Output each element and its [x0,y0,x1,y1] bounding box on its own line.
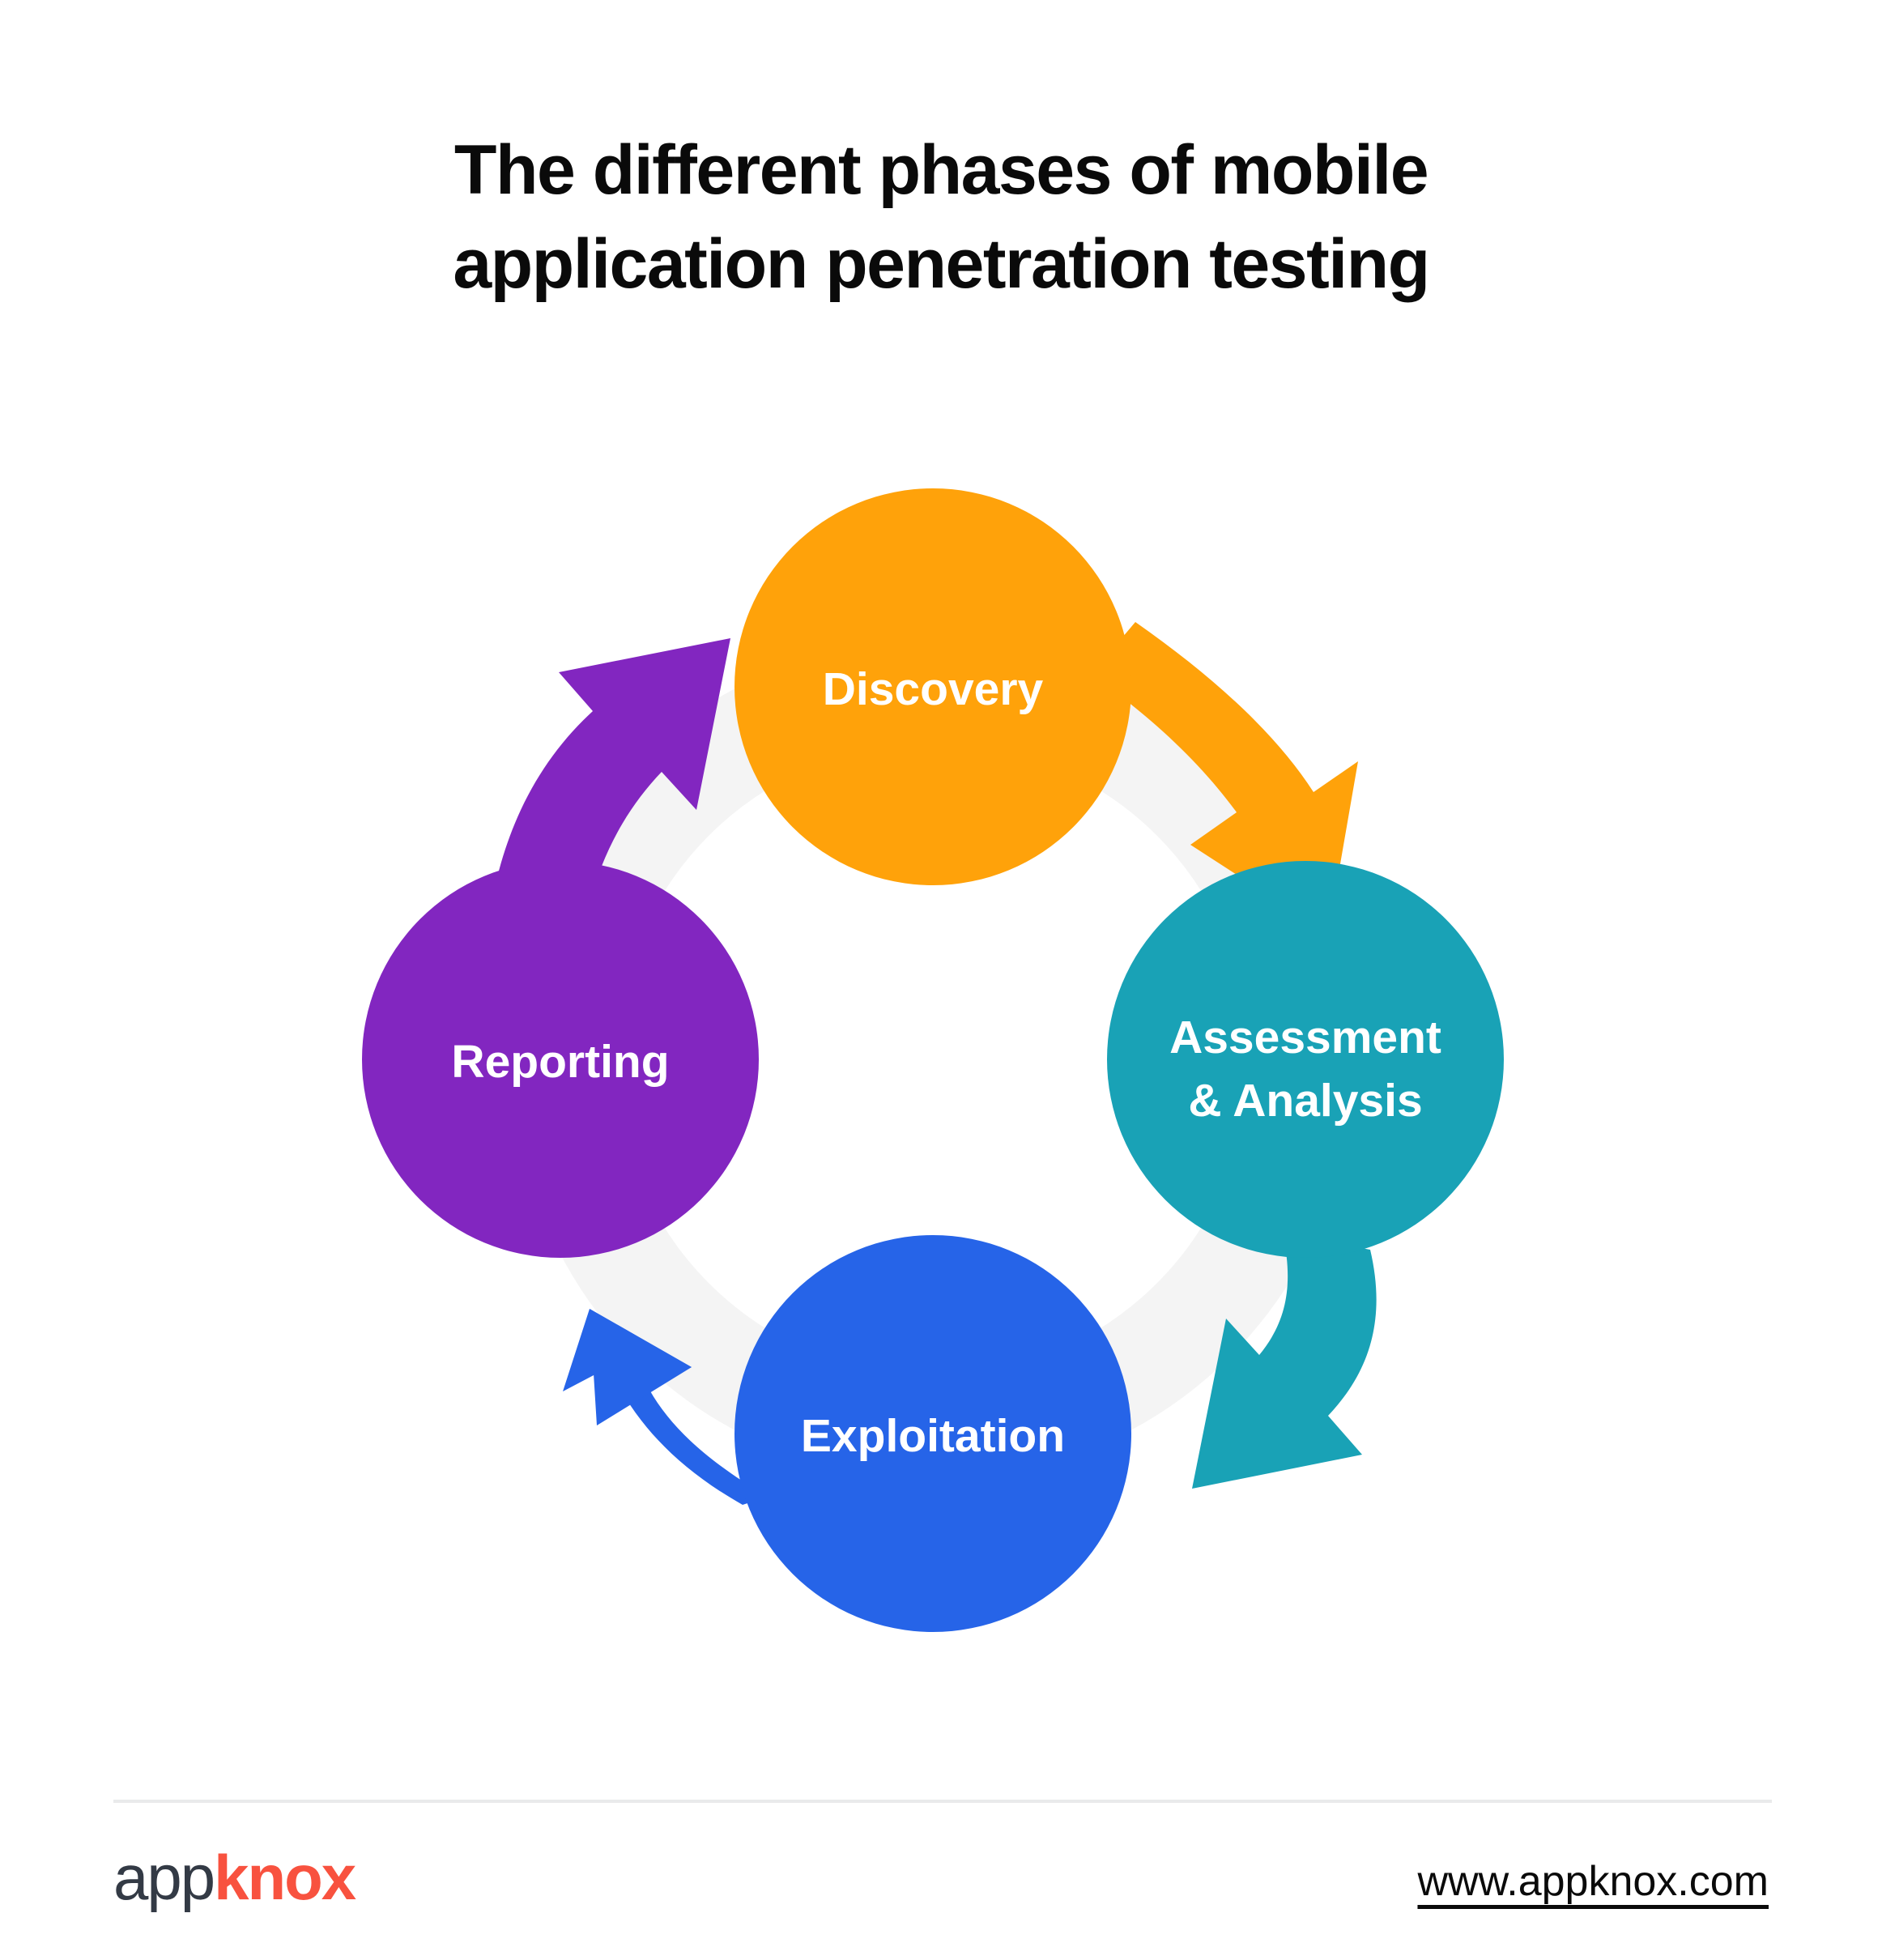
node-assessment-analysis-label-line-1: Assessment [1169,1012,1441,1063]
node-reporting[interactable]: Reporting [362,861,759,1258]
logo-text-knox: knox [214,1842,355,1913]
node-assessment-analysis-label-line-2: & Analysis [1188,1075,1422,1127]
page-title-line-1: The different phases of mobile [0,123,1882,217]
footer: appknox www.appknox.com [0,1830,1882,1944]
node-discovery[interactable]: Discovery [734,488,1131,885]
node-exploitation[interactable]: Exploitation [734,1235,1131,1632]
footer-divider [113,1800,1772,1803]
node-discovery-label: Discovery [823,663,1044,715]
website-url-link[interactable]: www.appknox.com [1417,1855,1769,1908]
page-title: The different phases of mobile applicati… [0,123,1882,311]
node-assessment-analysis[interactable]: Assessment & Analysis [1107,861,1504,1258]
node-exploitation-label: Exploitation [801,1410,1065,1462]
page-title-line-2: application penetration testing [0,217,1882,311]
appknox-logo[interactable]: appknox [113,1839,355,1916]
node-reporting-label: Reporting [451,1036,669,1088]
logo-text-app: app [113,1842,214,1913]
penetration-testing-cycle-diagram: Discovery Assessment & Analysis Exploita… [317,444,1548,1675]
